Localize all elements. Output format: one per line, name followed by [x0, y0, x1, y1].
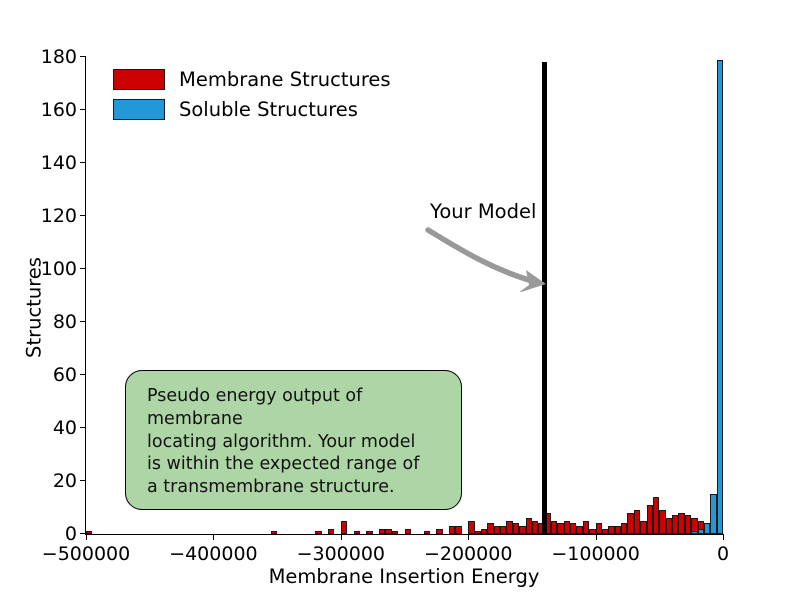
y-tick — [80, 162, 86, 163]
histogram-bar — [366, 531, 372, 534]
figure: 020406080100120140160180−500000−400000−3… — [0, 0, 800, 600]
annotation-textbox-text: Pseudo energy output of membrane locatin… — [147, 385, 461, 499]
x-tick — [596, 534, 597, 540]
x-tick-label: −200000 — [424, 543, 512, 565]
y-tick — [80, 480, 86, 481]
x-tick — [341, 534, 342, 540]
legend: Membrane Structures Soluble Structures — [113, 68, 391, 121]
histogram-bar — [328, 529, 334, 534]
y-tick-label: 80 — [53, 311, 77, 333]
y-tick-label: 180 — [41, 46, 77, 68]
legend-item-membrane: Membrane Structures — [113, 68, 391, 91]
annotation-textbox: Pseudo energy output of membrane locatin… — [125, 370, 462, 510]
y-tick — [80, 321, 86, 322]
y-tick — [80, 268, 86, 269]
histogram-bar — [341, 521, 347, 534]
x-axis-label: Membrane Insertion Energy — [85, 565, 723, 588]
y-tick-label: 0 — [65, 523, 77, 545]
your-model-arrow-icon — [420, 222, 560, 292]
histogram-bar — [405, 529, 411, 534]
legend-label-membrane: Membrane Structures — [179, 68, 391, 91]
y-tick-label: 120 — [41, 205, 77, 227]
histogram-bar — [271, 531, 277, 534]
your-model-label: Your Model — [430, 200, 536, 223]
histogram-bar — [315, 531, 321, 534]
histogram-bar — [392, 531, 398, 534]
y-tick — [80, 374, 86, 375]
legend-label-soluble: Soluble Structures — [179, 98, 358, 121]
y-tick-label: 20 — [53, 470, 77, 492]
x-tick — [723, 534, 724, 540]
x-tick-label: −500000 — [42, 543, 130, 565]
legend-swatch-membrane — [113, 69, 165, 90]
your-model-line — [542, 62, 547, 534]
histogram-bar — [424, 531, 430, 534]
y-tick-label: 140 — [41, 152, 77, 174]
legend-swatch-soluble — [113, 99, 165, 120]
y-tick-label: 160 — [41, 99, 77, 121]
histogram-bar — [717, 60, 723, 534]
histogram-bar — [455, 526, 461, 534]
y-tick — [80, 215, 86, 216]
x-tick — [213, 534, 214, 540]
x-tick — [468, 534, 469, 540]
legend-item-soluble: Soluble Structures — [113, 98, 391, 121]
histogram-bar — [436, 529, 442, 534]
y-axis-label: Structures — [23, 69, 46, 547]
x-tick-label: −300000 — [297, 543, 385, 565]
y-tick-label: 60 — [53, 364, 77, 386]
y-tick — [80, 427, 86, 428]
histogram-bar — [354, 531, 360, 534]
x-tick — [86, 534, 87, 540]
x-tick-label: −400000 — [169, 543, 257, 565]
y-tick-label: 40 — [53, 417, 77, 439]
x-tick-label: −100000 — [551, 543, 639, 565]
y-tick — [80, 109, 86, 110]
x-tick-label: 0 — [717, 543, 729, 565]
y-tick-label: 100 — [41, 258, 77, 280]
y-tick — [80, 56, 86, 57]
